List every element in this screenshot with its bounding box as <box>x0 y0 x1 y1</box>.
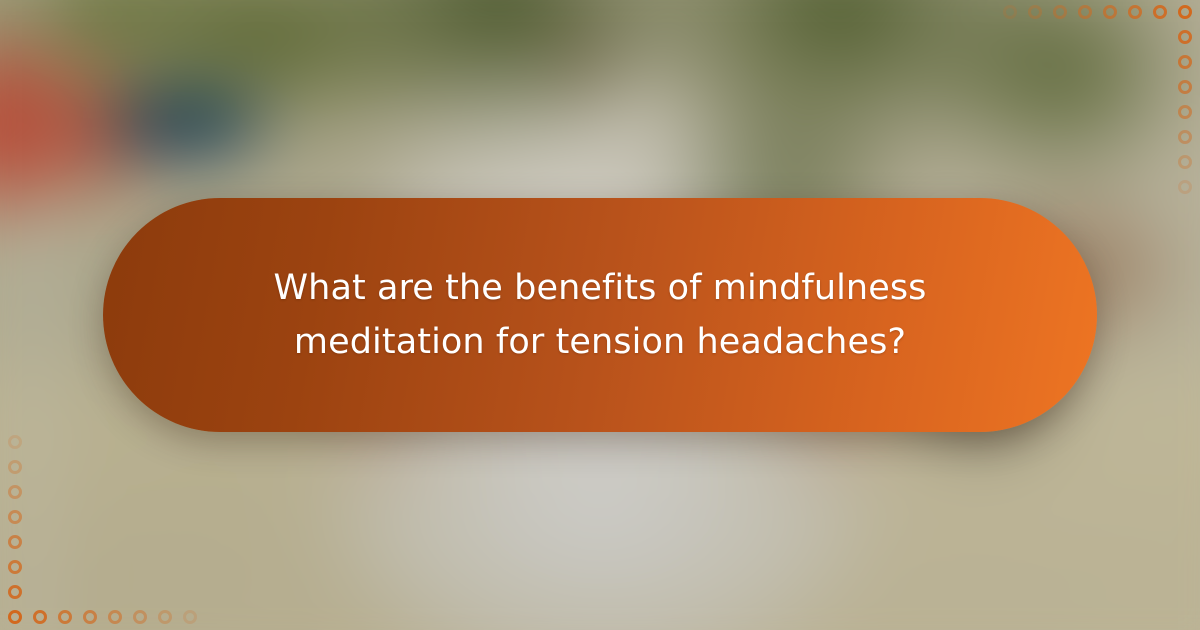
decorative-dot <box>1078 5 1092 19</box>
decorative-dot <box>1103 5 1117 19</box>
decorative-dot <box>1128 5 1142 19</box>
decorative-dot <box>83 610 97 624</box>
decorative-dot <box>1178 55 1192 69</box>
decorative-dot <box>58 610 72 624</box>
decorative-dot <box>133 610 147 624</box>
decorative-dot <box>1178 5 1192 19</box>
decorative-dot <box>1178 180 1192 194</box>
decorative-dot <box>8 485 22 499</box>
decorative-dot <box>108 610 122 624</box>
decorative-dot <box>158 610 172 624</box>
share-card-canvas: What are the benefits of mindfulness med… <box>0 0 1200 630</box>
decorative-dot <box>1153 5 1167 19</box>
decorative-dot <box>33 610 47 624</box>
decorative-dot <box>1003 5 1017 19</box>
question-card[interactable]: What are the benefits of mindfulness med… <box>103 198 1097 432</box>
question-text: What are the benefits of mindfulness med… <box>250 261 950 370</box>
decorative-dot <box>8 535 22 549</box>
decorative-dot <box>1178 155 1192 169</box>
decorative-dot <box>1053 5 1067 19</box>
decorative-dot <box>1178 105 1192 119</box>
decorative-dot <box>8 585 22 599</box>
decorative-dot <box>8 510 22 524</box>
decorative-dot <box>8 560 22 574</box>
decorative-dot <box>1178 80 1192 94</box>
decorative-dot <box>183 610 197 624</box>
decorative-dot <box>8 460 22 474</box>
decorative-dot <box>8 435 22 449</box>
decorative-dot <box>8 610 22 624</box>
decorative-dot <box>1178 30 1192 44</box>
decorative-dot <box>1178 130 1192 144</box>
decorative-dot <box>1028 5 1042 19</box>
